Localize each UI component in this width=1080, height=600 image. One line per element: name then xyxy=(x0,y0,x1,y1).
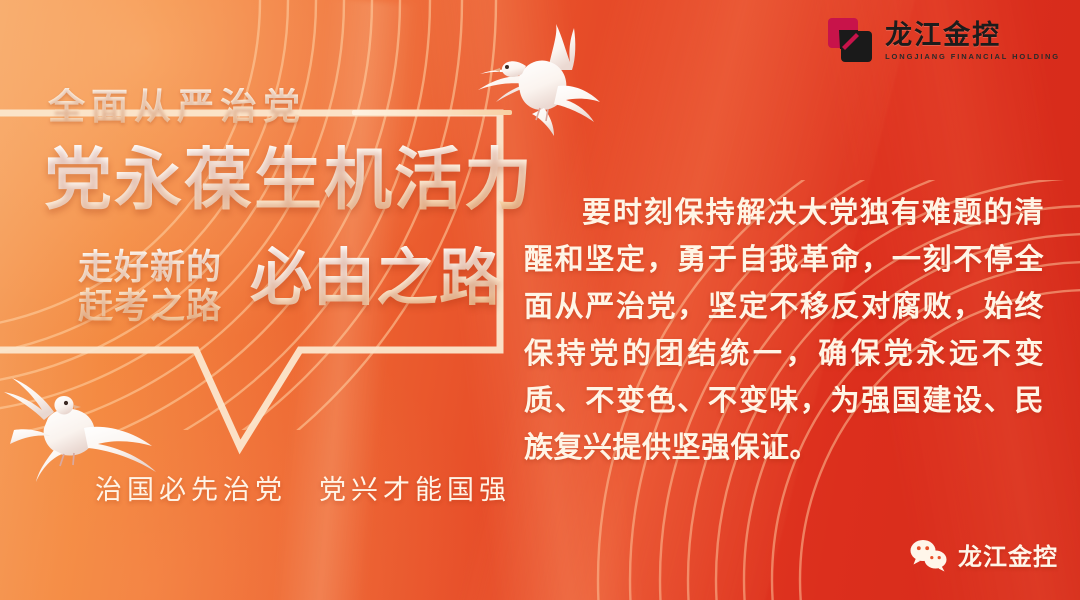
page-title: 党永葆生机活力 xyxy=(44,145,534,216)
kicker-text: 全面从严治党 xyxy=(48,88,306,125)
flying-dove-icon-top xyxy=(470,12,630,142)
brand-wordmark: 龙江金控 LONGJIANG FINANCIAL HOLDING xyxy=(885,22,1060,61)
promotional-poster: 全面从严治党 党永葆生机活力 走好新的 赶考之路 必由之路 治国必先治党 党兴才… xyxy=(0,0,1080,600)
wechat-icon xyxy=(909,538,949,572)
subline-stack-line-2: 赶考之路 xyxy=(78,287,222,326)
longjiang-square-mark-icon xyxy=(828,18,874,64)
brand-logo: 龙江金控 LONGJIANG FINANCIAL HOLDING xyxy=(828,18,1060,64)
subline-emphasis: 必由之路 xyxy=(250,246,502,311)
brand-name-en: LONGJIANG FINANCIAL HOLDING xyxy=(885,53,1060,61)
kicker-rule xyxy=(352,110,512,115)
wechat-account-badge[interactable]: 龙江金控 xyxy=(909,537,1058,572)
brand-name-cn: 龙江金控 xyxy=(885,22,1060,49)
flying-dove-icon-left xyxy=(0,352,176,482)
tagline-text: 治国必先治党 党兴才能国强 xyxy=(95,468,511,507)
subline-stack: 走好新的 赶考之路 xyxy=(78,248,222,326)
wechat-account-name: 龙江金控 xyxy=(958,537,1058,572)
body-paragraph: 要时刻保持解决大党独有难题的清醒和坚定，勇于自我革命，一刻不停全面从严治党，坚定… xyxy=(524,190,1044,472)
subline-stack-line-1: 走好新的 xyxy=(78,248,222,287)
